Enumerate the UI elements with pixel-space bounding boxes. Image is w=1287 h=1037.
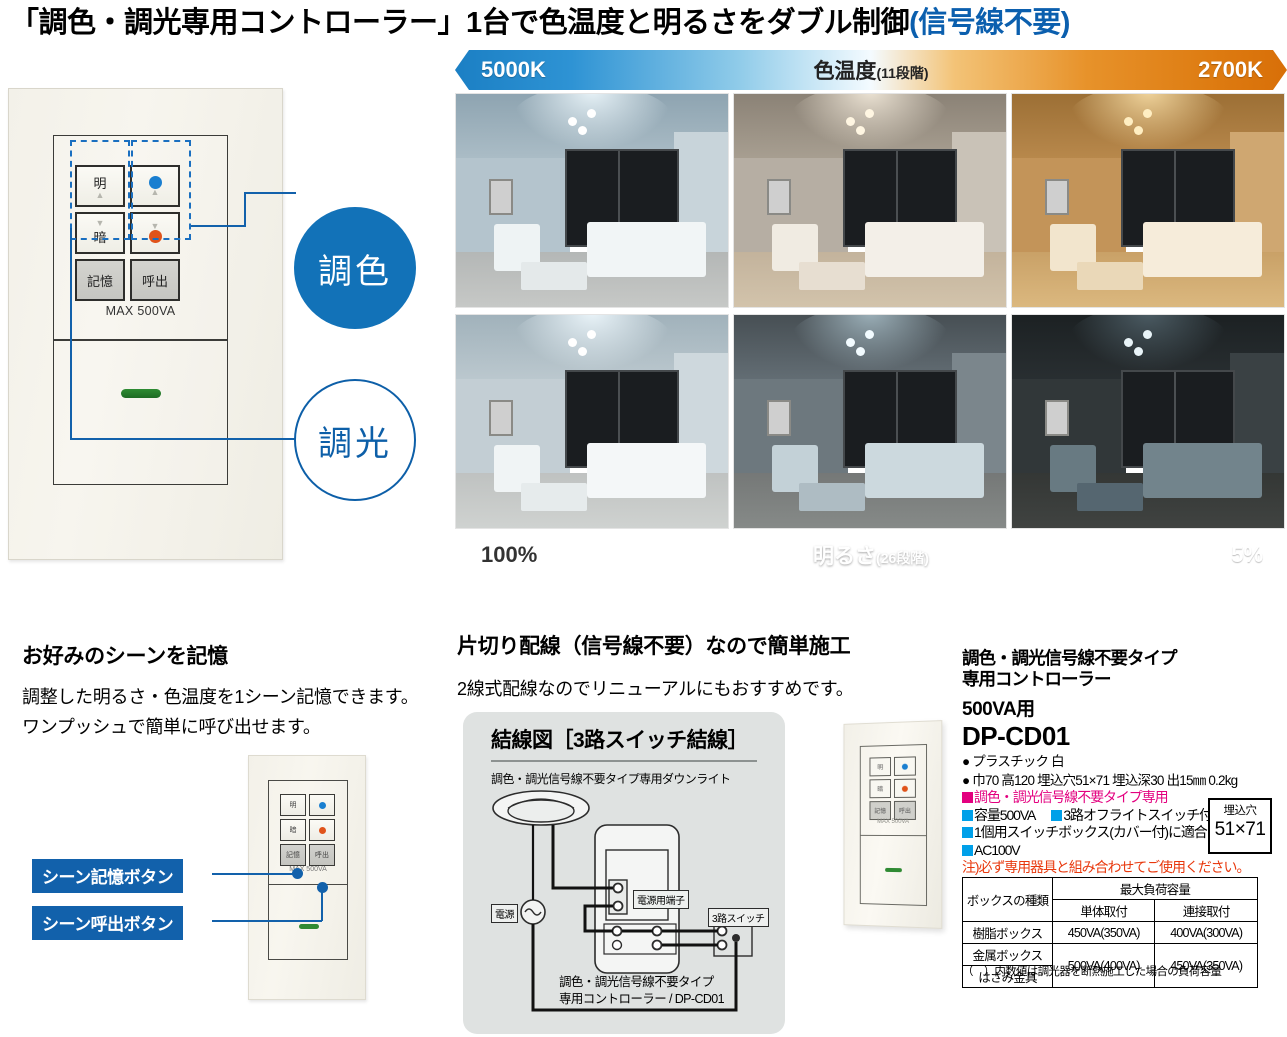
product-color-cooler-button[interactable] (894, 756, 916, 776)
mini-pilot-led (299, 924, 319, 929)
spotlight-icon (568, 338, 577, 347)
cyan-square-icon (962, 810, 973, 821)
td-box-type-resin: 樹脂ボックス (963, 922, 1053, 944)
tag-scene-recall: シーン呼出ボタン (32, 906, 183, 940)
page-title-accent: (信号線不要) (909, 7, 1070, 39)
tag-recall-line (212, 920, 322, 922)
mini-plate-divider (268, 884, 348, 885)
switch3-terminal-2 (718, 941, 727, 950)
switch3-label: 3路スイッチ (708, 908, 769, 927)
terminal-6 (653, 941, 662, 950)
controller-illustration: 明 ▲ ▲ ▼ 暗 ▼ (0, 60, 450, 610)
product-max-label: MAX 500VA (860, 819, 927, 825)
spec-heading-line2: 専用コントローラー (962, 669, 1282, 690)
cyan-square-icon (962, 845, 973, 856)
product-scene-recall-button[interactable]: 呼出 (894, 801, 916, 820)
memory-section-title: お好みのシーンを記憶 (22, 640, 442, 670)
max-capacity-label: MAX 500VA (53, 304, 228, 318)
memory-scene-section: お好みのシーンを記憶 調整した明るさ・色温度を1シーン記憶できます。 ワンプッシ… (22, 640, 442, 742)
tag-recall-line-v (321, 887, 323, 921)
embed-hole-box: 埋込穴 51×71 (1208, 798, 1272, 854)
mini-max-label: MAX 500VA (268, 866, 348, 873)
spec-feature-box: 1個用スイッチボックス(カバー付)に適合 (974, 824, 1207, 840)
load-capacity-note: （ ）内数値は調光器を断熱施工した場合の負荷容量 (962, 963, 1221, 979)
sofa (1143, 443, 1263, 498)
page-title: 「調色・調光専用コントローラー」1台で色温度と明るさをダブル制御(信号線不要) (10, 4, 1280, 44)
spotlight-icon (846, 338, 855, 347)
spec-feature-capacity: 容量500VA (974, 807, 1035, 823)
terminal-2 (614, 902, 623, 911)
product-brightness-up-button[interactable]: 明 (869, 757, 891, 776)
blue-dot-icon (902, 763, 908, 769)
switch3-common (732, 934, 740, 942)
terminal-4 (613, 941, 622, 950)
coffee-table (799, 483, 864, 511)
room-photo-warm (1011, 93, 1285, 308)
mini-color-warmer-button[interactable] (309, 819, 335, 841)
tag-scene-memory: シーン記憶ボタン (32, 859, 183, 893)
power-source-label: 電源 (491, 904, 518, 923)
wiring-section-subtitle: 2線式配線なのでリニューアルにもおすすめです。 (457, 674, 957, 704)
tag-memory-dot (292, 868, 303, 879)
brightness-center-label: 明るさ(26段階) (455, 540, 1287, 570)
sofa (865, 222, 985, 277)
td-resin-linked: 400VA(300VA) (1155, 922, 1258, 944)
switch3-terminal-1 (718, 927, 727, 936)
spotlight-icon (1124, 338, 1133, 347)
coffee-table (1077, 262, 1142, 290)
brightness-ribbon: 100% 明るさ(26段階) 5% (455, 535, 1287, 575)
mini-button-grid: 明 暗 記憶 呼出 (280, 794, 335, 869)
room-photo-cool (455, 93, 729, 308)
wiring-section: 片切り配線（信号線不要）なので簡単施工 2線式配線なのでリニューアルにもおすすめ… (457, 630, 957, 704)
brightness-title: 明るさ (813, 545, 876, 568)
spotlight-icon (865, 330, 874, 339)
orange-dot-icon (902, 785, 908, 791)
sofa (1143, 222, 1263, 277)
magenta-square-icon (962, 792, 973, 803)
page-title-main: 「調色・調光専用コントローラー」1台で色温度と明るさをダブル制御 (10, 7, 909, 39)
leader-line-dim-v (70, 228, 72, 440)
wall-picture (767, 179, 791, 215)
wiring-diagram-card: 結線図［3路スイッチ結線］ 調色・調光信号線不要タイプ専用ダウンライト (463, 712, 785, 1034)
mini-scene-recall-button[interactable]: 呼出 (309, 844, 335, 866)
spec-bullet-dimensions: ● 巾70 高120 埋込穴51×71 埋込深30 出15㎜ 0.2kg (962, 772, 1282, 789)
product-button-row-3: 記憶 呼出 (869, 801, 915, 820)
wall-picture (1045, 400, 1069, 436)
wall-picture (1045, 179, 1069, 215)
product-scene-memory-button[interactable]: 記憶 (869, 801, 891, 820)
scene-recall-button[interactable]: 呼出 (130, 259, 180, 301)
spotlight-icon (587, 109, 596, 118)
spotlight-icon (1143, 109, 1152, 118)
leader-line-color-v (244, 192, 246, 227)
wall-picture (767, 400, 791, 436)
spotlight-icon (865, 109, 874, 118)
spec-heading-line1: 調色・調光信号線不要タイプ (962, 648, 1282, 669)
wall-picture (489, 400, 513, 436)
memory-section-body: 調整した明るさ・色温度を1シーン記憶できます。 ワンプッシュで簡単に呼び出せます… (22, 682, 442, 742)
coffee-table (1077, 483, 1142, 511)
spec-capacity: 500VA用 (962, 694, 1282, 721)
room-photo-bright-100 (455, 314, 729, 529)
mini-button-row-1: 明 (280, 794, 335, 816)
color-highlight-box (131, 140, 191, 240)
mini-scene-memory-button[interactable]: 記憶 (280, 844, 306, 866)
dimming-photo-row (455, 314, 1287, 529)
spotlight-icon (846, 117, 855, 126)
page-root: 「調色・調光専用コントローラー」1台で色温度と明るさをダブル制御(信号線不要) … (0, 0, 1287, 1037)
spec-heading: 調色・調光信号線不要タイプ 専用コントローラー (962, 648, 1282, 690)
th-box-type: ボックスの種類 (963, 878, 1053, 922)
table-row: 樹脂ボックス 450VA(350VA) 400VA(300VA) (963, 922, 1258, 944)
spotlight-icon (568, 117, 577, 126)
power-terminal-label: 電源用端子 (633, 890, 689, 909)
wiring-footnote: 調色・調光信号線不要タイプ 専用コントローラー / DP-CD01 (559, 974, 724, 1008)
room-photo-neutral (733, 93, 1007, 308)
spec-caution: 注)必ず専用器具と組み合わせてご使用ください。 (962, 859, 1282, 877)
sofa (865, 443, 985, 498)
th-max-load: 最大負荷容量 (1052, 878, 1257, 900)
callout-color-label: 調色 (318, 244, 392, 293)
th-single-mount: 単体取付 (1052, 900, 1155, 922)
sofa (587, 443, 707, 498)
spec-feature-ac: AC100V (974, 842, 1020, 858)
wiring-section-title: 片切り配線（信号線不要）なので簡単施工 (457, 630, 957, 660)
sofa (587, 222, 707, 277)
wall-picture (489, 179, 513, 215)
scene-memory-button[interactable]: 記憶 (75, 259, 125, 301)
callout-dim-label: 調光 (318, 416, 392, 465)
tag-memory-line (212, 873, 297, 875)
product-button-grid: 明 暗 記憶 呼出 (869, 756, 915, 823)
wiring-footnote-line1: 調色・調光信号線不要タイプ (559, 974, 724, 991)
lighting-demo-block: 5000K 色温度(11段階) 2700K (455, 50, 1287, 585)
product-pilot-led (885, 868, 902, 872)
cct-steps: (11段階) (876, 65, 928, 81)
spec-feature-dedicated-text: 調色・調光信号線不要タイプ専用 (974, 789, 1168, 805)
coffee-table (799, 262, 864, 290)
mini-button-row-3: 記憶 呼出 (280, 844, 335, 866)
mini-button-row-2: 暗 (280, 819, 335, 841)
spec-model-number: DP-CD01 (962, 721, 1282, 751)
mini-controller-photo: 明 暗 記憶 呼出 MAX 500VA (248, 755, 366, 1000)
embed-hole-value: 51×71 (1210, 819, 1270, 841)
mini-brightness-up-button[interactable]: 明 (280, 794, 306, 816)
pilot-led-indicator (121, 389, 161, 398)
cct-right-value: 2700K (1198, 57, 1263, 83)
leader-line-dim-h (70, 438, 298, 440)
spotlight-icon (1124, 117, 1133, 126)
product-button-row-1: 明 (869, 756, 915, 776)
product-brightness-down-button[interactable]: 暗 (869, 779, 891, 798)
button-row-3: 記憶 呼出 (75, 259, 180, 301)
color-temperature-ribbon: 5000K 色温度(11段階) 2700K (455, 50, 1287, 90)
leader-line-color-h2 (244, 192, 296, 194)
room-photo-bright-mid (733, 314, 1007, 529)
spotlight-icon (1143, 330, 1152, 339)
product-button-row-2: 暗 (869, 779, 915, 799)
room-photo-bright-5 (1011, 314, 1285, 529)
orange-dot-icon (319, 827, 326, 834)
spec-bullet-material: ● プラスチック 白 (962, 753, 1282, 770)
cct-title: 色温度 (813, 60, 876, 83)
coffee-table (521, 483, 586, 511)
mini-color-cooler-button[interactable] (309, 794, 335, 816)
mini-brightness-down-button[interactable]: 暗 (280, 819, 306, 841)
brightness-steps: (26段階) (876, 550, 929, 566)
product-wall-plate: 明 暗 記憶 呼出 MAX 500VA (844, 720, 943, 929)
spec-feature-switch3: 3路オフライトスイッチ付 (1063, 807, 1212, 823)
product-photo: 明 暗 記憶 呼出 MAX 500VA (832, 718, 952, 933)
coffee-table (521, 262, 586, 290)
callout-dimming: 調光 (294, 379, 416, 501)
cct-center-label: 色温度(11段階) (455, 55, 1287, 85)
cct-photo-row (455, 93, 1287, 308)
spotlight-icon (587, 330, 596, 339)
cyan-square-icon (962, 827, 973, 838)
cyan-square-icon (1051, 810, 1062, 821)
table-header-row-1: ボックスの種類 最大負荷容量 (963, 878, 1258, 900)
terminal-1 (614, 884, 623, 893)
leader-line-color-h (191, 225, 246, 227)
embed-hole-label: 埋込穴 (1210, 804, 1270, 819)
plate-divider (53, 339, 228, 341)
td-resin-single: 450VA(350VA) (1052, 922, 1155, 944)
blue-dot-icon (319, 802, 326, 809)
terminal-3 (613, 927, 622, 936)
brightness-right-value: 5% (1231, 542, 1263, 568)
th-linked-mount: 連接取付 (1155, 900, 1258, 922)
product-color-warmer-button[interactable] (894, 779, 916, 798)
memory-body-line-2: ワンプッシュで簡単に呼び出せます。 (22, 712, 442, 742)
dimming-highlight-box (70, 140, 130, 240)
memory-body-line-1: 調整した明るさ・色温度を1シーン記憶できます。 (22, 682, 442, 712)
wiring-footnote-line2: 専用コントローラー / DP-CD01 (559, 991, 724, 1008)
callout-color-temperature: 調色 (294, 207, 416, 329)
terminal-5 (653, 927, 662, 936)
